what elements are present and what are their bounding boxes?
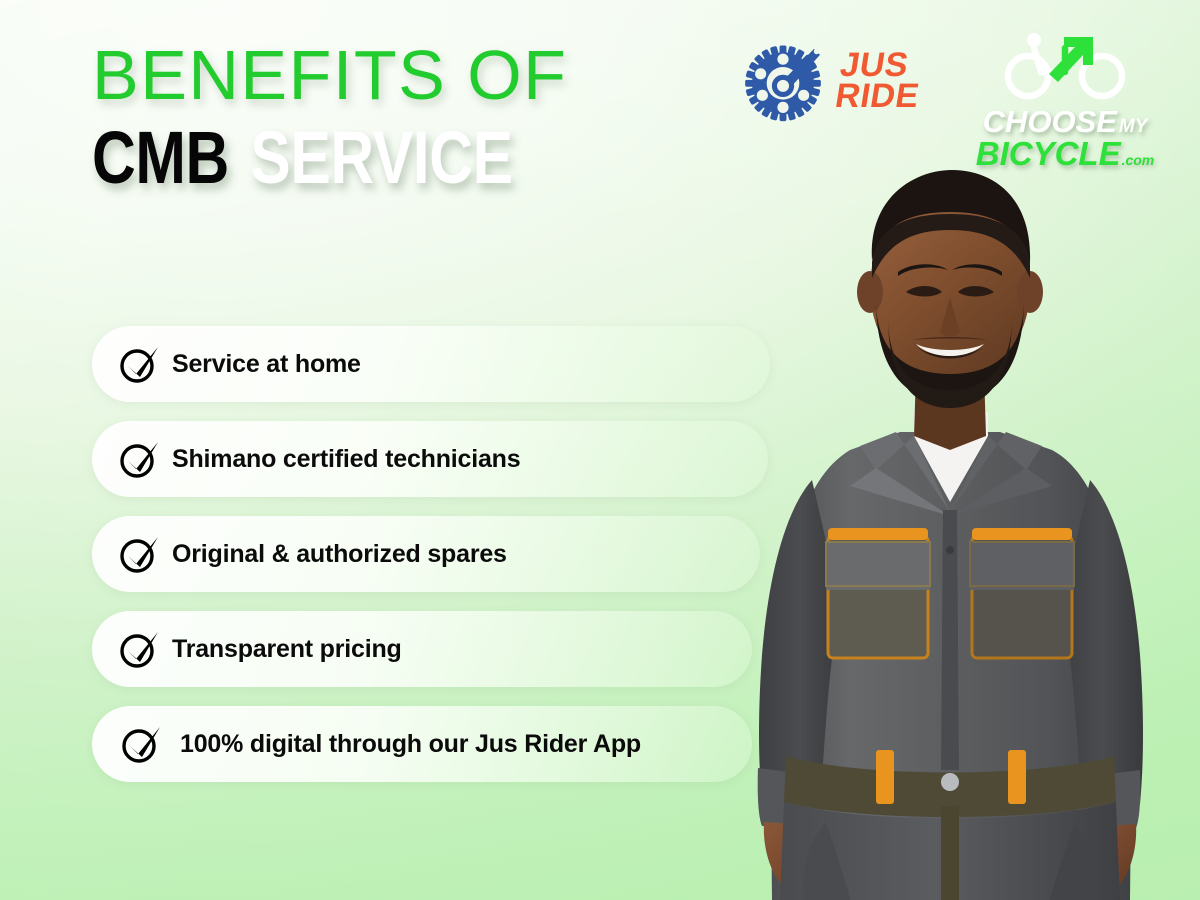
wordmark-my: MY [1119, 118, 1148, 137]
list-item[interactable]: Service at home [92, 326, 770, 402]
headline-line-1: BENEFITS OF [92, 42, 712, 109]
check-circle-icon [118, 438, 160, 480]
right-pocket-flap [970, 542, 1074, 590]
jusride-line-2: RIDE [833, 82, 921, 113]
list-item[interactable]: 100% digital through our Jus Rider App [92, 706, 752, 782]
check-circle-icon [118, 343, 160, 385]
check-circle-icon [118, 533, 160, 575]
check-circle-icon [118, 628, 160, 670]
headline-brand-cmb: CMB [92, 116, 229, 199]
bicycle-arrow-icon [1001, 87, 1129, 104]
benefits-list: Service at home Shimano certified techni… [92, 326, 770, 801]
jusride-logo[interactable]: JUS RIDE [740, 36, 921, 127]
list-item-label: Service at home [172, 350, 361, 379]
list-item-label: 100% digital through our Jus Rider App [180, 730, 641, 759]
chainring-crank-icon [740, 36, 826, 127]
right-pocket-piping [972, 528, 1072, 540]
list-item[interactable]: Shimano certified technicians [92, 421, 768, 497]
list-item[interactable]: Transparent pricing [92, 611, 752, 687]
left-pocket-flap [826, 542, 930, 590]
trouser-fly [941, 806, 959, 900]
list-item-label: Original & authorized spares [172, 540, 507, 569]
technician-photo [700, 150, 1200, 900]
belt-tab-right [1008, 750, 1026, 804]
list-item[interactable]: Original & authorized spares [92, 516, 760, 592]
list-item-label: Shimano certified technicians [172, 445, 520, 474]
jusride-wordmark: JUS RIDE [833, 50, 926, 113]
list-item-label: Transparent pricing [172, 635, 402, 664]
coverall-button [946, 546, 954, 554]
promotional-poster: BENEFITS OF CMBSERVICE [0, 0, 1200, 900]
belt-button [941, 773, 959, 791]
belt-tab-left [876, 750, 894, 804]
choosemybicycle-line-1: CHOOSE MY [965, 107, 1165, 137]
logo-group: JUS RIDE [740, 28, 1180, 168]
wordmark-choose: CHOOSE [983, 107, 1117, 137]
check-circle-icon [120, 723, 162, 765]
headline-word-service: SERVICE [250, 116, 512, 199]
page-title: BENEFITS OF CMBSERVICE [92, 42, 712, 195]
left-pocket-piping [828, 528, 928, 540]
left-ear [857, 271, 883, 313]
headline-line-2: CMBSERVICE [92, 121, 600, 195]
